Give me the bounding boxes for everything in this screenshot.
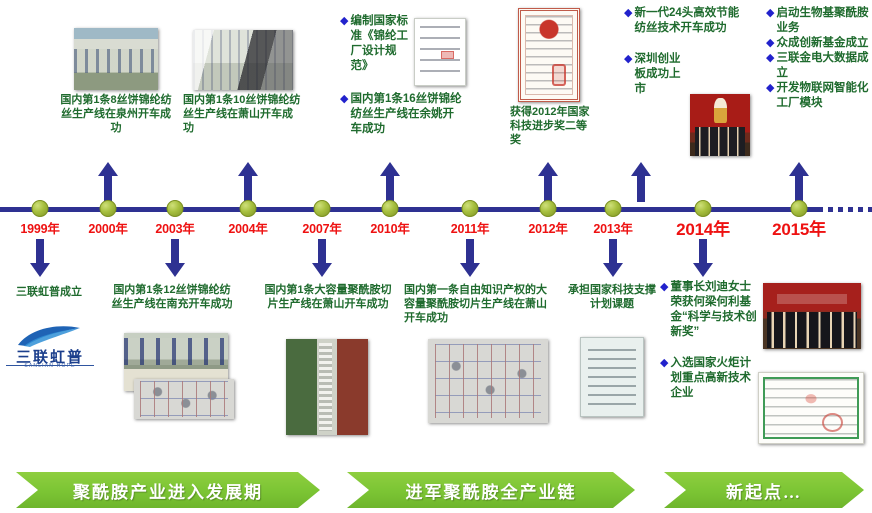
timeline-year-2007: 2007年 bbox=[302, 218, 341, 237]
diamond-bullet-icon: ◆ bbox=[766, 51, 774, 65]
timeline-year-2000: 2000年 bbox=[88, 218, 127, 237]
connector-arrow-down-2003 bbox=[164, 239, 186, 277]
certificate-inner-frame bbox=[525, 15, 573, 95]
milestone-caption: 国内第一条自由知识产权的大容量聚酰胺切片生产线在萧山开车成功 bbox=[404, 283, 550, 325]
milestone-above-1999: 国内第1条8丝饼锦纶纺丝生产线在泉州开车成功 bbox=[58, 28, 174, 135]
photo-spinning-hall-xiaoshan bbox=[193, 30, 293, 90]
milestone-below-1999: 三联虹普成立 三联虹普 SANLIAN HOPE bbox=[0, 285, 98, 299]
connector-arrow-up-2015 bbox=[788, 162, 810, 202]
photo-award-ceremony-group bbox=[763, 283, 861, 349]
diamond-bullet-icon: ◆ bbox=[660, 280, 668, 294]
milestone-caption: 三联虹普成立 bbox=[0, 285, 98, 299]
connector-arrow-up-2004 bbox=[237, 162, 259, 202]
phase-banner-1[interactable]: 聚酰胺产业进入发展期 bbox=[16, 472, 320, 508]
milestone-above-2007: ◆ 编制国家标准《锦纶工厂设计规范》 ◆ 国内第1条16丝饼锦纶纺丝生产线在余姚… bbox=[340, 14, 464, 137]
connector-arrow-down-2007 bbox=[311, 239, 333, 277]
milestone-item-label: 开发物联网智能化工厂模块 bbox=[776, 81, 870, 111]
photo-equipment-detail bbox=[134, 379, 234, 419]
photo-national-program-document bbox=[580, 337, 644, 417]
milestone-below-2007: 国内第1条大容量聚酰胺切片生产线在萧山开车成功 bbox=[264, 283, 392, 311]
diamond-bullet-icon: ◆ bbox=[624, 6, 632, 20]
timeline-node-2007[interactable] bbox=[314, 200, 331, 217]
photo-torch-program-certificate bbox=[758, 372, 864, 444]
diamond-bullet-icon: ◆ bbox=[340, 92, 348, 106]
ceremony-banner bbox=[777, 294, 848, 305]
ceremony-bell-shape bbox=[714, 98, 727, 123]
company-logo: 三联虹普 SANLIAN HOPE bbox=[0, 325, 100, 373]
diamond-bullet-icon: ◆ bbox=[766, 36, 774, 50]
connector-arrow-down-1999 bbox=[29, 239, 51, 277]
connector-arrow-down-2014 bbox=[692, 239, 714, 277]
connector-arrow-up-2000 bbox=[97, 162, 119, 202]
timeline-year-2004: 2004年 bbox=[228, 218, 267, 237]
milestone-item-label: 编制国家标准《锦纶工厂设计规范》 bbox=[350, 14, 410, 74]
connector-arrow-up-2012 bbox=[537, 162, 559, 202]
phase-banner-2[interactable]: 进军聚酰胺全产业链 bbox=[347, 472, 635, 508]
milestone-caption: 国内第1条8丝饼锦纶纺丝生产线在泉州开车成功 bbox=[58, 93, 174, 135]
photo-ipo-ceremony bbox=[690, 94, 750, 156]
milestone-caption: 国内第1条大容量聚酰胺切片生产线在萧山开车成功 bbox=[264, 283, 392, 311]
red-stamp-mark bbox=[441, 51, 454, 60]
milestone-below-2013: 承担国家科技支撑计划课题 bbox=[566, 283, 658, 311]
timeline-node-2010[interactable] bbox=[382, 200, 399, 217]
milestone-item-label: 深圳创业板成功上市 bbox=[634, 52, 690, 97]
timeline-axis-dotted-continuation bbox=[818, 207, 872, 212]
diamond-bullet-icon: ◆ bbox=[766, 6, 774, 20]
milestone-below-2011: 国内第一条自由知识产权的大容量聚酰胺切片生产线在萧山开车成功 bbox=[404, 283, 550, 325]
timeline-year-2003: 2003年 bbox=[155, 218, 194, 237]
connector-arrow-down-2013 bbox=[602, 239, 624, 277]
photo-process-flow-diagram bbox=[428, 339, 548, 423]
connector-arrow-up-2013 bbox=[630, 162, 652, 202]
milestone-above-2015: ◆启动生物基聚酰胺业务 ◆众成创新基金成立 ◆三联金电大数据成立 ◆开发物联网智… bbox=[766, 6, 870, 111]
timeline-year-2014: 2014年 bbox=[676, 215, 730, 240]
logo-swoosh-icon bbox=[16, 325, 82, 347]
photo-polymerization-tower-xiaoshan bbox=[286, 339, 368, 435]
milestone-above-2012: 获得2012年国家科技进步奖二等奖 bbox=[510, 8, 596, 147]
milestone-above-2003: 国内第1条10丝饼锦纶纺丝生产线在萧山开车成功 bbox=[183, 30, 301, 135]
logo-english-name: SANLIAN HOPE bbox=[0, 363, 100, 369]
milestone-item-label: 新一代24头高效节能纺丝技术开车成功 bbox=[634, 6, 742, 36]
diamond-bullet-icon: ◆ bbox=[660, 356, 668, 370]
milestone-item-label: 三联金电大数据成立 bbox=[776, 51, 870, 81]
timeline-year-2010: 2010年 bbox=[370, 218, 409, 237]
milestone-below-2003: 国内第1条12丝饼锦纶纺丝生产线在南充开车成功 bbox=[110, 283, 234, 311]
timeline-node-2000[interactable] bbox=[100, 200, 117, 217]
milestone-item-label: 董事长刘迪女士荣获何梁何利基金“科学与技术创新奖” bbox=[670, 280, 760, 340]
phase-banner-3[interactable]: 新起点… bbox=[664, 472, 864, 508]
photo-spinning-plant-quanzhou bbox=[74, 28, 158, 90]
timeline-node-2012[interactable] bbox=[540, 200, 557, 217]
milestone-caption: 国内第1条12丝饼锦纶纺丝生产线在南充开车成功 bbox=[110, 283, 234, 311]
timeline-node-2013[interactable] bbox=[605, 200, 622, 217]
photo-national-standard-document bbox=[414, 18, 466, 86]
milestone-caption: 承担国家科技支撑计划课题 bbox=[566, 283, 658, 311]
milestone-caption: 获得2012年国家科技进步奖二等奖 bbox=[510, 105, 596, 147]
diamond-bullet-icon: ◆ bbox=[624, 52, 632, 66]
certificate-inner-frame bbox=[763, 377, 859, 439]
timeline-year-2013: 2013年 bbox=[593, 218, 632, 237]
timeline-year-1999: 1999年 bbox=[20, 218, 59, 237]
timeline-node-1999[interactable] bbox=[32, 200, 49, 217]
timeline-year-2012: 2012年 bbox=[528, 218, 567, 237]
timeline-node-2003[interactable] bbox=[167, 200, 184, 217]
milestone-above-2013: ◆ 新一代24头高效节能纺丝技术开车成功 ◆ 深圳创业板成功上市 bbox=[624, 6, 748, 97]
connector-arrow-up-2010 bbox=[379, 162, 401, 202]
milestone-item-label: 启动生物基聚酰胺业务 bbox=[776, 6, 870, 36]
timeline-year-2015: 2015年 bbox=[772, 215, 826, 240]
milestone-item-label: 国内第1条16丝饼锦纶纺丝生产线在余姚开车成功 bbox=[350, 92, 462, 137]
photo-science-progress-award-certificate bbox=[518, 8, 580, 102]
milestone-item-label: 入选国家火炬计划重点高新技术企业 bbox=[670, 356, 760, 401]
timeline-year-2011: 2011年 bbox=[451, 218, 490, 237]
timeline-infographic: 国内第1条8丝饼锦纶纺丝生产线在泉州开车成功 国内第1条10丝饼锦纶纺丝生产线在… bbox=[0, 0, 872, 513]
milestone-below-2014: ◆ 董事长刘迪女士荣获何梁何利基金“科学与技术创新奖” ◆ 入选国家火炬计划重点… bbox=[660, 280, 760, 401]
milestone-caption: 国内第1条10丝饼锦纶纺丝生产线在萧山开车成功 bbox=[183, 93, 301, 135]
connector-arrow-down-2011 bbox=[459, 239, 481, 277]
milestone-item-label: 众成创新基金成立 bbox=[776, 36, 868, 51]
diamond-bullet-icon: ◆ bbox=[340, 14, 348, 28]
timeline-node-2011[interactable] bbox=[462, 200, 479, 217]
timeline-node-2004[interactable] bbox=[240, 200, 257, 217]
diamond-bullet-icon: ◆ bbox=[766, 81, 774, 95]
